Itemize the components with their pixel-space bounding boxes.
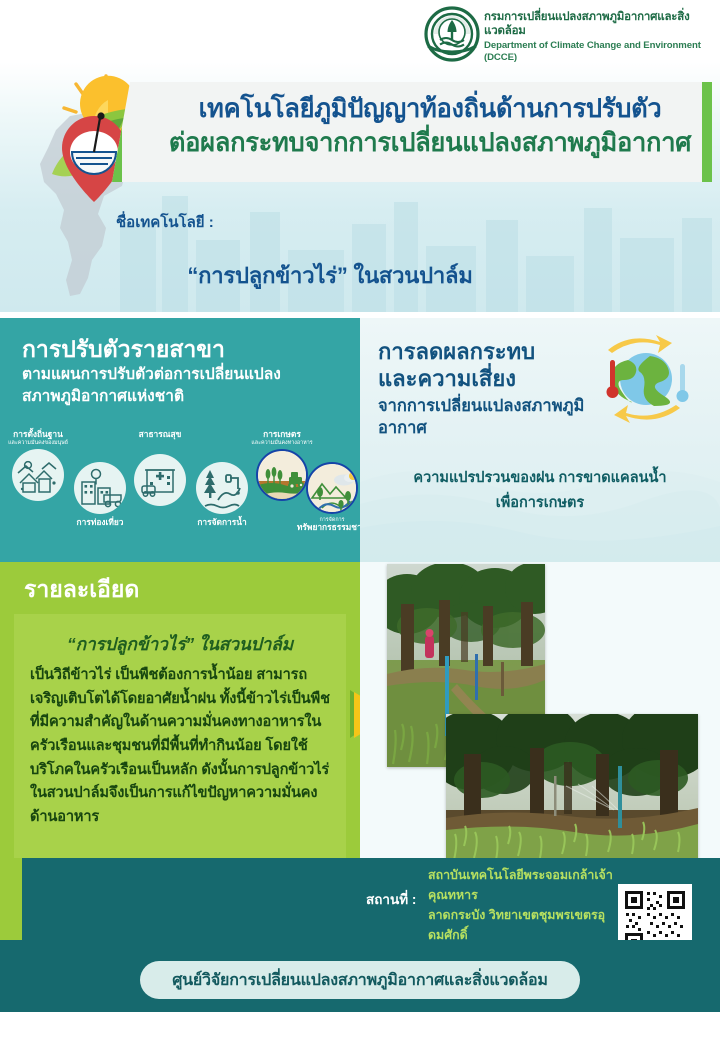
details-body: เป็นวิถีข้าวไร่ เป็นพืชต้องการน้ำน้อย สา… <box>14 658 346 829</box>
location-line-1: สถาบันเทคโนโลยีพระจอมเกล้าเจ้าคุณทหาร <box>428 865 614 905</box>
hero-section: เทคโนโลยีภูมิปัญญาท้องถิ่นด้านการปรับตัว… <box>0 62 720 312</box>
settlement-houses-icon <box>12 449 64 501</box>
technology-name-label: ชื่อเทคโนโลยี : <box>116 210 214 234</box>
public-health-hospital-icon <box>134 454 186 506</box>
technology-name-value: “การปลูกข้าวไร่” ในสวนปาล์ม <box>0 258 660 293</box>
sector-item-tourism[interactable]: การท่องเที่ยว <box>74 462 126 528</box>
sector-item-public-health[interactable]: สาธารณสุข <box>134 430 186 506</box>
sector-item-settlement[interactable]: การตั้งถิ่นฐาน และความมั่นคงของมนุษย์ <box>12 430 64 501</box>
sector-item-agriculture[interactable]: การเกษตร และความมั่นคงทางอาหาร <box>256 430 308 501</box>
person-in-red <box>425 629 434 658</box>
risk-line-1: ความแปรปรวนของฝน การขาดแคลนน้ำ <box>370 466 710 491</box>
natural-resources-mountain-icon <box>306 462 358 514</box>
sector-label-public-health: สาธารณสุข <box>121 430 199 440</box>
mitigation-risk-panel: การลดผลกระทบ และความเสี่ยง จากการเปลี่ยน… <box>360 318 720 562</box>
poster-title: เทคโนโลยีภูมิปัญญาท้องถิ่นด้านการปรับตัว… <box>160 92 700 161</box>
sector-item-water-management[interactable]: การจัดการน้ำ <box>196 462 248 528</box>
water-management-tap-icon <box>196 462 248 514</box>
agriculture-tractor-icon <box>256 449 308 501</box>
footer-pill: ศูนย์วิจัยการเปลี่ยนแปลงสภาพภูมิอากาศและ… <box>140 961 580 999</box>
footer-text: ศูนย์วิจัยการเปลี่ยนแปลงสภาพภูมิอากาศและ… <box>172 968 548 993</box>
risk-line-2: เพื่อการเกษตร <box>370 491 710 516</box>
dcce-emblem-icon <box>424 6 480 62</box>
sector-item-natural-resources[interactable]: การจัดการ ทรัพยากรธรรมชาติ <box>306 462 358 533</box>
sector-panel-sub-2: สภาพภูมิอากาศแห่งชาติ <box>22 386 342 408</box>
title-ribbon: เทคโนโลยีภูมิปัญญาท้องถิ่นด้านการปรับตัว… <box>112 82 712 182</box>
tourism-city-car-icon <box>74 462 126 514</box>
details-heading: รายละเอียด <box>24 572 139 608</box>
details-subject: “การปลูกข้าวไร่” ในสวนปาล์ม <box>14 614 346 658</box>
footer-bar: ศูนย์วิจัยการเปลี่ยนแปลงสภาพภูมิอากาศและ… <box>0 940 720 1040</box>
sector-label-settlement: การตั้งถิ่นฐาน และความมั่นคงของมนุษย์ <box>0 430 77 446</box>
poster-root: กรมการเปลี่ยนแปลงสภาพภูมิอากาศและสิ่งแวด… <box>0 0 720 1040</box>
footer-white-strip <box>0 1012 720 1040</box>
sector-icon-row: การตั้งถิ่นฐาน และความมั่นคงของมนุษย์ <box>6 430 358 556</box>
sector-label-agriculture: การเกษตร และความมั่นคงทางอาหาร <box>243 430 321 446</box>
risk-description: ความแปรปรวนของฝน การขาดแคลนน้ำ เพื่อการเ… <box>370 466 710 515</box>
cold-thermometer <box>677 364 689 402</box>
sector-panel-heading: การปรับตัวรายสาขา <box>22 336 342 364</box>
sector-label-water-management: การจัดการน้ำ <box>183 518 261 528</box>
org-name-thai: กรมการเปลี่ยนแปลงสภาพภูมิอากาศและสิ่งแวด… <box>484 10 716 39</box>
sector-label-tourism: การท่องเที่ยว <box>61 518 139 528</box>
photo-gallery <box>360 562 720 864</box>
org-name-english: Department of Climate Change and Environ… <box>484 40 716 65</box>
globe-thermometer-icon <box>588 332 698 428</box>
title-line-1: เทคโนโลยีภูมิปัญญาท้องถิ่นด้านการปรับตัว <box>160 92 700 126</box>
sector-adaptation-panel: การปรับตัวรายสาขา ตามแผนการปรับตัวต่อการ… <box>0 318 360 562</box>
location-label: สถานที่ : <box>366 888 416 910</box>
sector-panel-sub-1: ตามแผนการปรับตัวต่อการเปลี่ยนแปลง <box>22 364 342 386</box>
photo-palm-trees-with-rice-understory <box>446 714 698 862</box>
title-line-2: ต่อผลกระทบจากการเปลี่ยนแปลงสภาพภูมิอากาศ <box>160 126 700 160</box>
